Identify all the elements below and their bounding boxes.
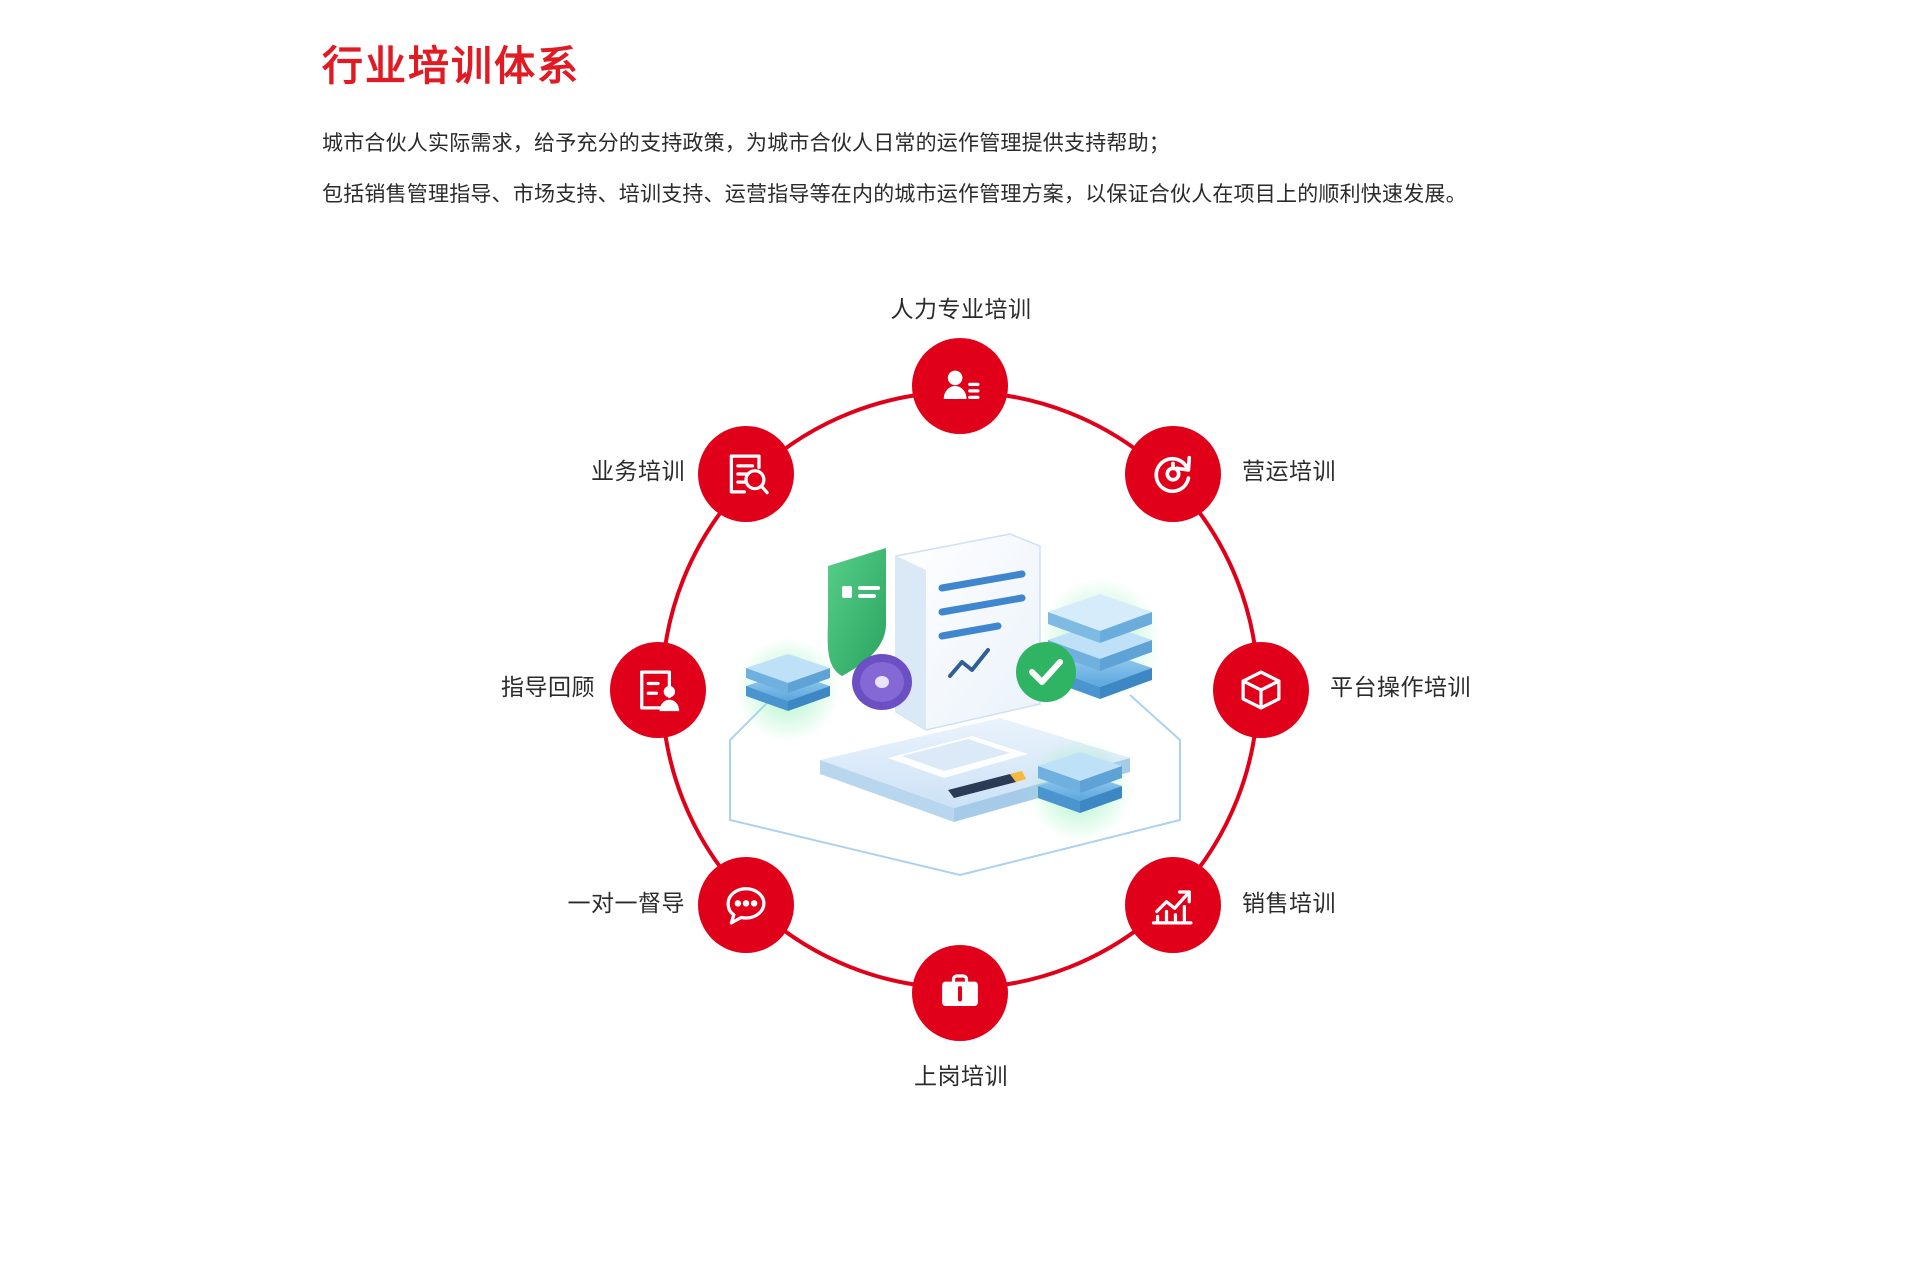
diagram-label-platform: 平台操作培训 (1330, 668, 1471, 702)
diagram-label-oneonone: 一对一督导 (490, 884, 685, 918)
diagram-node-business[interactable] (698, 426, 794, 522)
diagram-label-sales: 销售培训 (1242, 884, 1336, 918)
center-illustration (710, 490, 1210, 880)
bar-chart-growth-icon (1147, 879, 1199, 931)
cube-box-icon (1235, 664, 1287, 716)
page-title: 行业培训体系 (322, 42, 1722, 91)
intro-paragraph-line-1: 城市合伙人实际需求，给予充分的支持政策，为城市合伙人日常的运作管理提供支持帮助； (322, 133, 1722, 154)
diagram-node-oneonone[interactable] (698, 857, 794, 953)
training-system-diagram: 人力专业培训 营运培训 平台操作培训 (570, 300, 1350, 1090)
diagram-label-review: 指导回顾 (380, 668, 595, 702)
document-person-icon (632, 664, 684, 716)
diagram-label-operation: 营运培训 (1242, 452, 1336, 486)
diagram-node-review[interactable] (610, 642, 706, 738)
diagram-node-platform[interactable] (1213, 642, 1309, 738)
diagram-label-onboard: 上岗培训 (886, 1057, 1036, 1091)
intro-paragraph-line-2: 包括销售管理指导、市场支持、培训支持、运营指导等在内的城市运作管理方案，以保证合… (322, 184, 1722, 205)
chat-bubble-dots-icon (720, 879, 772, 931)
diagram-node-onboard[interactable] (912, 945, 1008, 1041)
diagram-node-sales[interactable] (1125, 857, 1221, 953)
refresh-cycle-icon (1147, 448, 1199, 500)
page-root: 行业培训体系 城市合伙人实际需求，给予充分的支持政策，为城市合伙人日常的运作管理… (0, 0, 1920, 1262)
diagram-node-operation[interactable] (1125, 426, 1221, 522)
diagram-node-hr[interactable] (912, 338, 1008, 434)
diagram-label-hr: 人力专业培训 (876, 290, 1046, 324)
diagram-label-business: 业务培训 (490, 452, 685, 486)
user-profile-icon (934, 360, 986, 412)
document-search-icon (720, 448, 772, 500)
briefcase-icon (934, 967, 986, 1019)
header-block: 行业培训体系 城市合伙人实际需求，给予充分的支持政策，为城市合伙人日常的运作管理… (322, 42, 1722, 235)
